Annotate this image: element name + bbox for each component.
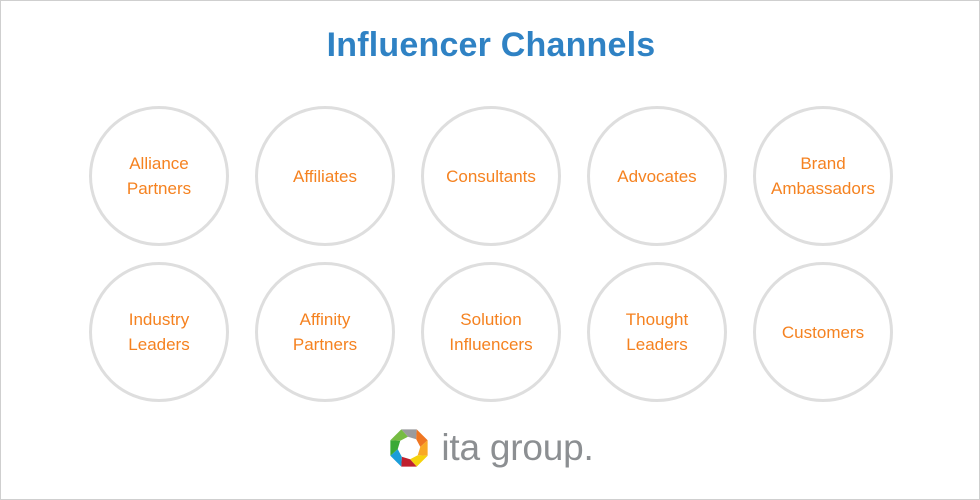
channel-row-1: Alliance Partners Affiliates Consultants…: [1, 103, 980, 249]
channel-node-affinity-partners[interactable]: Affinity Partners: [255, 262, 395, 402]
channel-label: Advocates: [587, 164, 727, 189]
ita-group-octagon-logo-icon: [388, 427, 430, 469]
channel-label: Affiliates: [255, 164, 395, 189]
page-title: Influencer Channels: [1, 21, 980, 69]
channel-label: Solution Influencers: [421, 307, 561, 357]
channel-label: Industry Leaders: [89, 307, 229, 357]
channel-label: Customers: [753, 320, 893, 345]
channel-node-solution-influencers[interactable]: Solution Influencers: [421, 262, 561, 402]
channel-node-consultants[interactable]: Consultants: [421, 106, 561, 246]
channel-label: Consultants: [421, 164, 561, 189]
channel-node-customers[interactable]: Customers: [753, 262, 893, 402]
channel-node-advocates[interactable]: Advocates: [587, 106, 727, 246]
channel-circle-grid: Alliance Partners Affiliates Consultants…: [1, 97, 980, 407]
channel-label: Brand Ambassadors: [753, 151, 893, 201]
channel-label: Affinity Partners: [255, 307, 395, 357]
channel-node-alliance-partners[interactable]: Alliance Partners: [89, 106, 229, 246]
channel-node-thought-leaders[interactable]: Thought Leaders: [587, 262, 727, 402]
channel-row-2: Industry Leaders Affinity Partners Solut…: [1, 259, 980, 405]
influencer-channels-infographic: Influencer Channels Alliance Partners Af…: [0, 0, 980, 500]
brand-logo: ita group.: [1, 419, 980, 477]
channel-node-brand-ambassadors[interactable]: Brand Ambassadors: [753, 106, 893, 246]
channel-label: Thought Leaders: [587, 307, 727, 357]
channel-node-affiliates[interactable]: Affiliates: [255, 106, 395, 246]
channel-node-industry-leaders[interactable]: Industry Leaders: [89, 262, 229, 402]
channel-label: Alliance Partners: [89, 151, 229, 201]
logo-wordmark: ita group.: [441, 427, 593, 469]
